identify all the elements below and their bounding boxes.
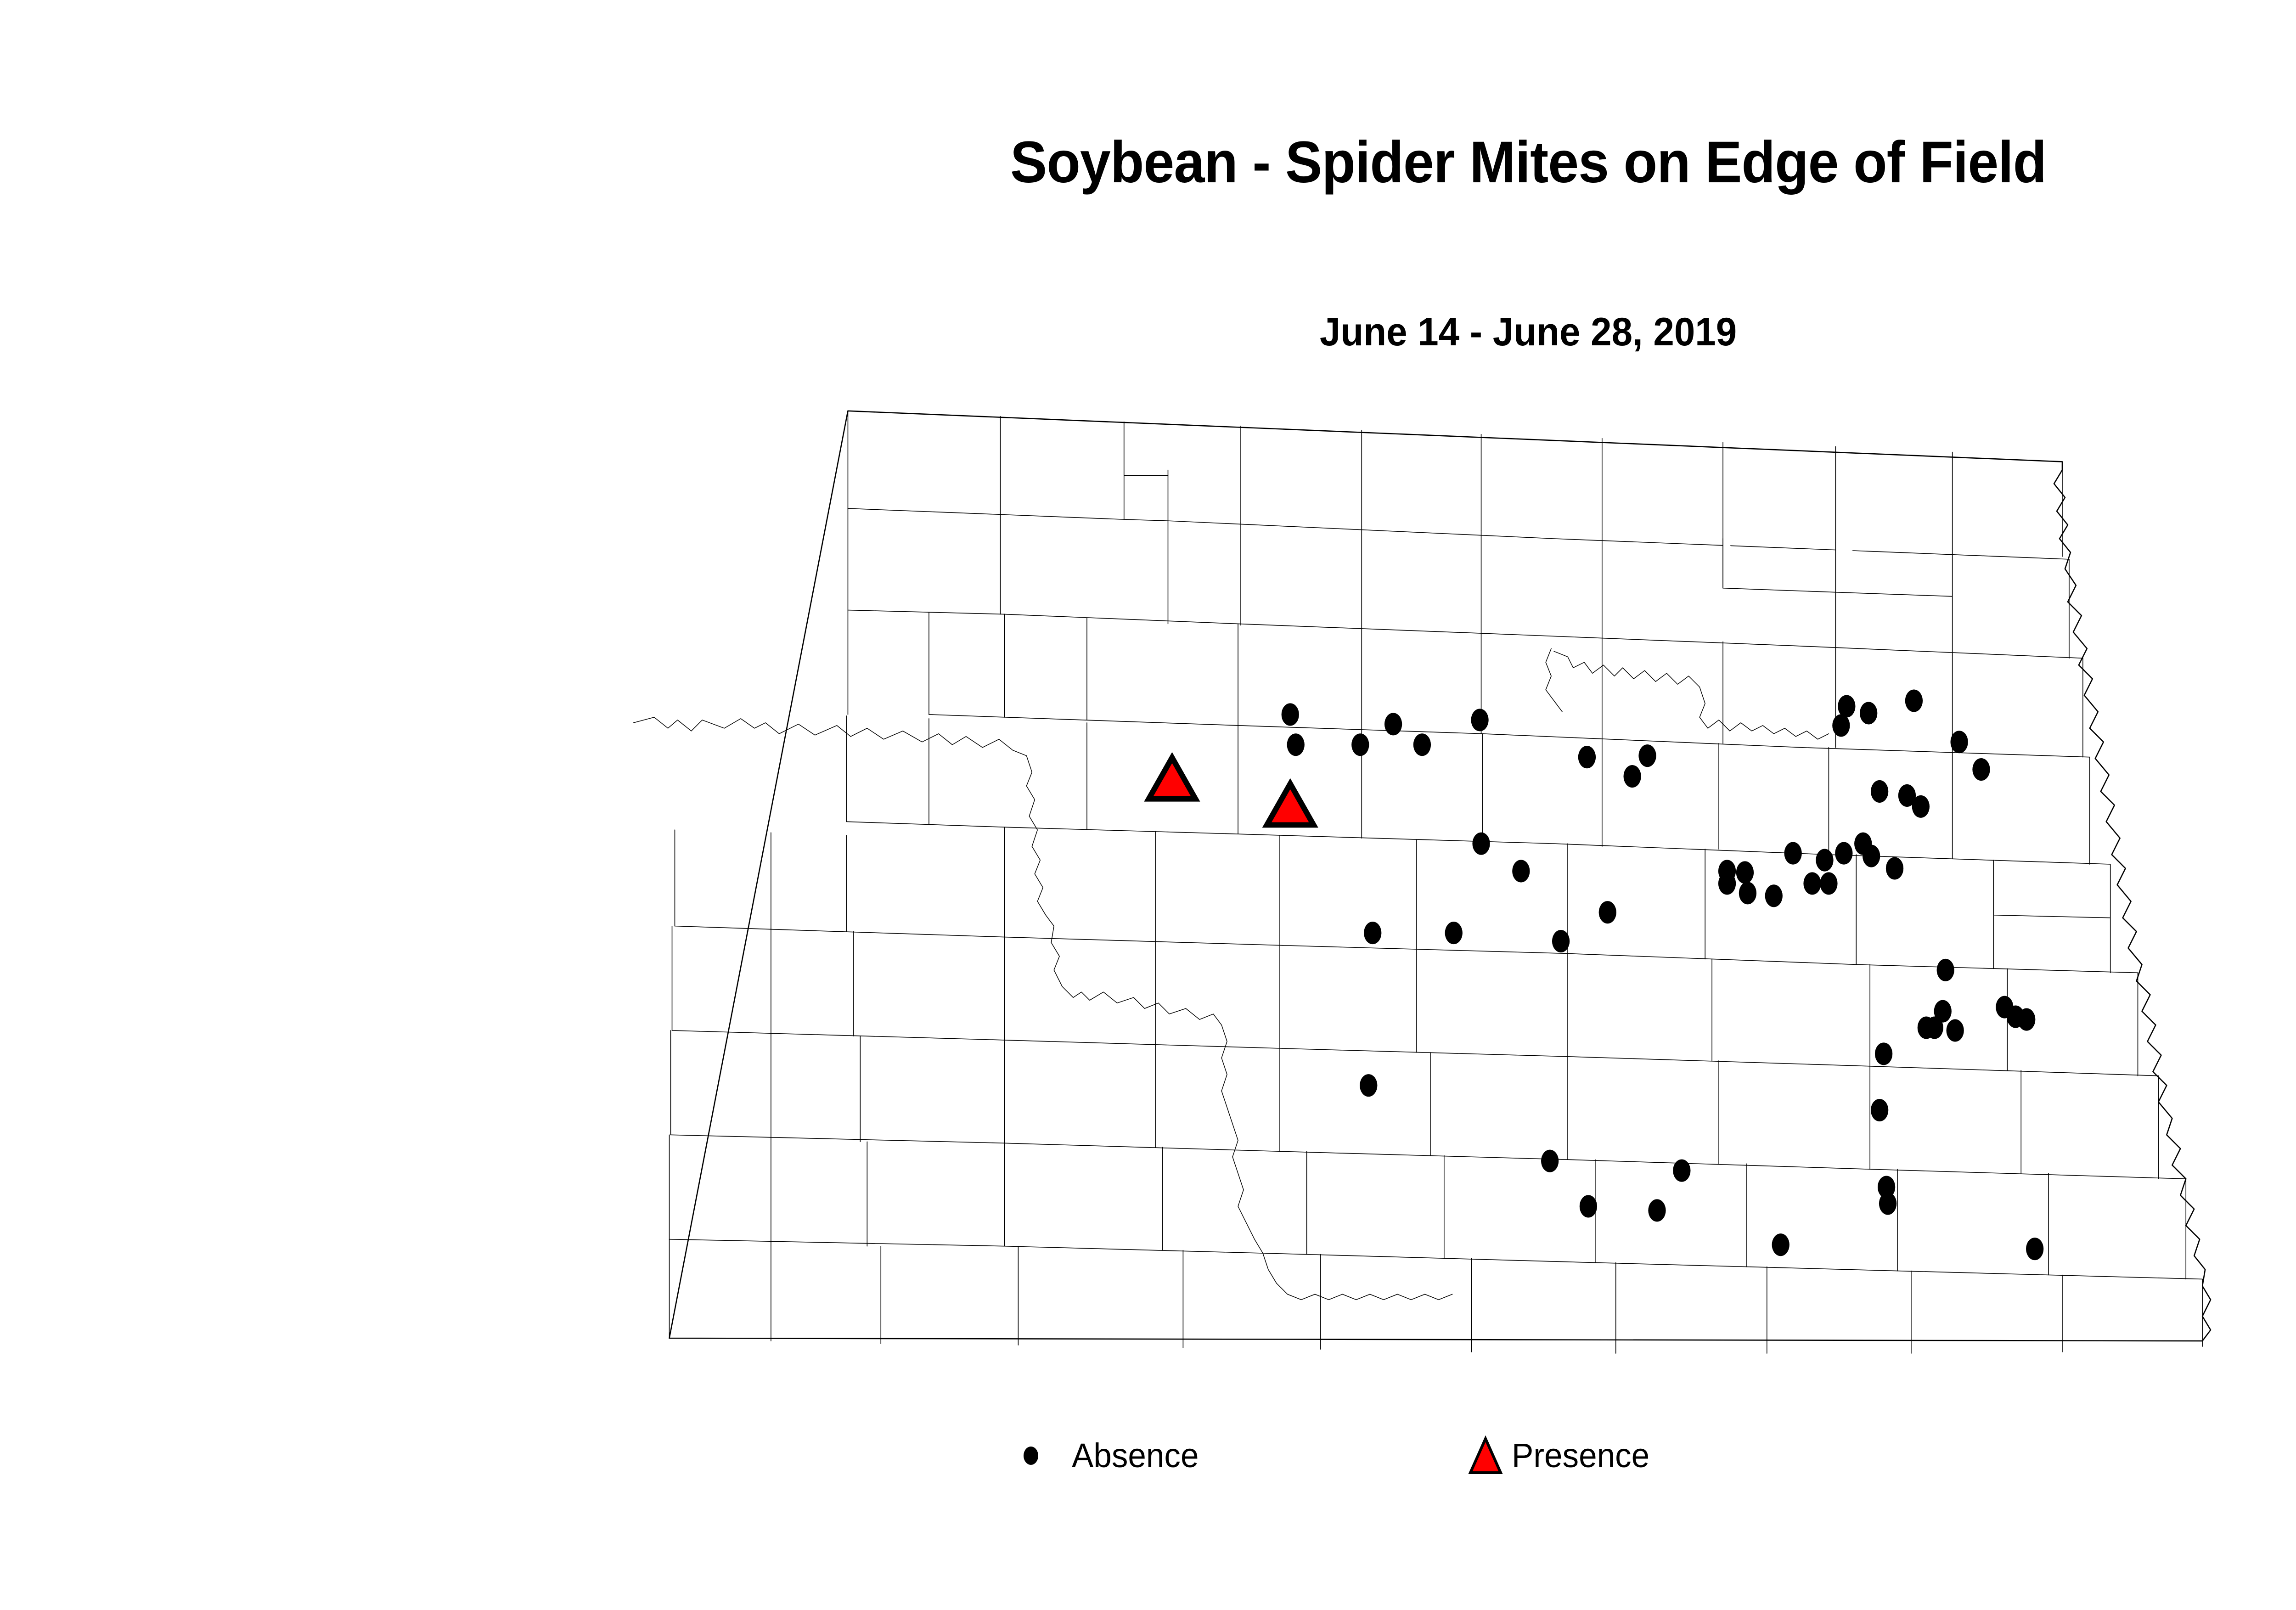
- absence-marker[interactable]: [1384, 713, 1402, 735]
- absence-marker[interactable]: [1364, 922, 1381, 944]
- map-svg[interactable]: [592, 377, 2227, 1355]
- absence-marker[interactable]: [1445, 922, 1463, 944]
- absence-marker[interactable]: [1718, 872, 1736, 895]
- absence-marker[interactable]: [1871, 780, 1888, 803]
- absence-marker[interactable]: [2018, 1008, 2035, 1031]
- state-outline: [670, 411, 2211, 1341]
- absence-marker[interactable]: [1886, 857, 1903, 879]
- absence-marker[interactable]: [1638, 744, 1656, 767]
- legend: Absence Presence: [0, 1428, 2296, 1506]
- absence-marker[interactable]: [1871, 1099, 1888, 1121]
- absence-marker[interactable]: [1765, 884, 1783, 907]
- absence-marker[interactable]: [1360, 1074, 1377, 1097]
- absence-marker[interactable]: [1578, 746, 1596, 768]
- absence-marker[interactable]: [1879, 1192, 1896, 1215]
- absence-marker[interactable]: [1926, 1016, 1943, 1039]
- absence-marker[interactable]: [1803, 872, 1821, 895]
- absence-marker[interactable]: [1472, 833, 1490, 855]
- absence-marker[interactable]: [1947, 1019, 1964, 1041]
- page-title: Soybean - Spider Mites on Edge of Field: [1010, 133, 2046, 192]
- absence-marker[interactable]: [1287, 733, 1305, 756]
- spider-mites-map-figure: Soybean - Spider Mites on Edge of Field …: [0, 0, 2296, 1610]
- presence-marker[interactable]: [1149, 758, 1196, 799]
- absence-marker[interactable]: [1816, 849, 1833, 872]
- legend-item-presence[interactable]: Presence: [1460, 1428, 1655, 1483]
- absence-marker[interactable]: [1838, 695, 1855, 717]
- absence-marker[interactable]: [1541, 1150, 1559, 1172]
- absence-marker[interactable]: [1905, 689, 1923, 712]
- absence-marker[interactable]: [1912, 795, 1930, 818]
- absence-marker[interactable]: [1623, 765, 1641, 788]
- absence-marker[interactable]: [2026, 1238, 2043, 1260]
- absence-marker[interactable]: [1875, 1042, 1892, 1065]
- black-dot-icon: [1006, 1430, 1056, 1481]
- absence-marker[interactable]: [1832, 714, 1850, 737]
- absence-marker[interactable]: [1580, 1195, 1597, 1217]
- absence-marker[interactable]: [1471, 709, 1488, 731]
- legend-label-absence: Absence: [1072, 1439, 1199, 1473]
- absence-marker[interactable]: [1772, 1233, 1790, 1256]
- subtitle-block: June 14 - June 28, 2019: [0, 312, 2296, 352]
- legend-item-absence[interactable]: Absence: [1006, 1428, 1204, 1483]
- legend-label-presence: Presence: [1512, 1439, 1649, 1473]
- absence-marker[interactable]: [1739, 882, 1756, 904]
- date-range-subtitle: June 14 - June 28, 2019: [1320, 312, 1737, 352]
- county-boundaries-layer: [670, 411, 2203, 1353]
- absence-marker[interactable]: [1599, 901, 1616, 923]
- absence-marker[interactable]: [1950, 731, 1968, 753]
- absence-marker[interactable]: [1863, 845, 1880, 867]
- data-markers-layer[interactable]: [1149, 689, 2044, 1260]
- absence-marker[interactable]: [1673, 1160, 1690, 1182]
- absence-marker[interactable]: [1552, 930, 1570, 952]
- absence-marker[interactable]: [1351, 733, 1369, 756]
- absence-marker[interactable]: [1972, 758, 1990, 781]
- presence-marker[interactable]: [1267, 784, 1314, 825]
- absence-marker[interactable]: [1736, 861, 1754, 884]
- absence-marker[interactable]: [1512, 860, 1530, 882]
- absence-marker[interactable]: [1648, 1199, 1666, 1222]
- absence-marker[interactable]: [1937, 959, 1954, 981]
- absence-marker[interactable]: [1784, 842, 1802, 865]
- absence-marker[interactable]: [1860, 702, 1877, 724]
- red-triangle-icon: [1460, 1430, 1511, 1481]
- title-block: Soybean - Spider Mites on Edge of Field: [0, 133, 2296, 192]
- absence-marker[interactable]: [1835, 842, 1852, 865]
- north-dakota-county-map[interactable]: [592, 377, 2227, 1355]
- absence-marker[interactable]: [1413, 733, 1431, 756]
- absence-marker[interactable]: [1820, 872, 1837, 895]
- absence-marker[interactable]: [1282, 703, 1299, 726]
